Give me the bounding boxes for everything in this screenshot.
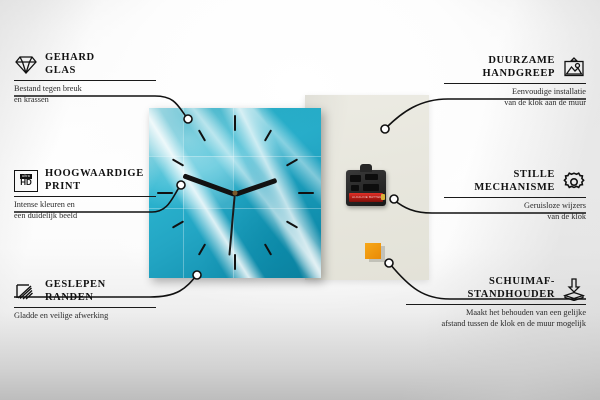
clock-tick-4 — [286, 220, 298, 228]
divider — [406, 304, 586, 305]
clock-tick-1 — [264, 129, 272, 141]
glass-reflection-line — [149, 156, 321, 157]
glass-reflection-line — [149, 208, 321, 209]
feature-schuimafstandhouder: SCHUIMAF- STANDHOUDER Maakt het behouden… — [406, 276, 586, 329]
feature-sub-line1: Maakt het behouden van een gelijke — [406, 308, 586, 319]
feature-duurzame-handgreep: DUURZAME HANDGREEP Eenvoudige installati… — [444, 55, 586, 108]
clock-tick-2 — [286, 158, 298, 166]
mechanism-detail — [363, 184, 379, 191]
mechanism-detail — [350, 175, 361, 182]
feature-sub-line1: Gladde en veilige afwerking — [14, 311, 156, 322]
feature-sub-line2: en krassen — [14, 95, 156, 106]
clock-face-image — [149, 108, 321, 278]
feature-geslepen-randen: GESLEPEN RANDEN Gladde en veilige afwerk… — [14, 279, 156, 322]
battery-label: ALKALINE BATTERY — [352, 195, 384, 199]
feature-sub-line2: afstand tussen de klok en de muur mogeli… — [406, 319, 586, 330]
beveled-edges-icon — [14, 281, 38, 303]
infographic-canvas: ALKALINE BATTERY — [0, 0, 600, 400]
feature-title: HOOGWAARDIGE PRINT — [45, 168, 144, 193]
picture-frame-icon — [562, 57, 586, 79]
feature-header: DUURZAME HANDGREEP — [444, 55, 586, 80]
clock-mechanism: ALKALINE BATTERY — [346, 170, 386, 206]
clock-hour-hand — [234, 178, 277, 197]
glass-sheen — [149, 108, 183, 156]
feature-header: STILLE MECHANISME — [444, 169, 586, 194]
foam-spacer-pad — [365, 243, 381, 259]
gear-icon — [562, 171, 586, 193]
feature-gehard-glas: GEHARD GLAS Bestand tegen breuk en krass… — [14, 52, 156, 105]
feature-sub-line2: van de klok — [444, 212, 586, 223]
feature-header: ultra HD HOOGWAARDIGE PRINT — [14, 168, 156, 193]
clock-tick-7 — [198, 243, 206, 255]
clock-tick-9 — [157, 192, 173, 194]
feature-title: SCHUIMAF- STANDHOUDER — [468, 276, 556, 301]
clock-tick-12 — [234, 115, 236, 131]
clock-center-pin — [233, 191, 238, 196]
feature-title: GEHARD GLAS — [45, 52, 95, 77]
clock-tick-6 — [234, 254, 236, 270]
clock-tick-11 — [198, 129, 206, 141]
clock-tick-3 — [298, 192, 314, 194]
feature-header: GESLEPEN RANDEN — [14, 279, 156, 304]
feature-sub-line2: van de klok aan de muur — [444, 98, 586, 109]
feature-sub-line1: Geruisloze wijzers — [444, 201, 586, 212]
feature-title: GESLEPEN RANDEN — [45, 279, 106, 304]
battery-positive-terminal — [381, 194, 385, 200]
ultra-hd-badge: ultra HD — [14, 170, 38, 192]
feature-title: DUURZAME HANDGREEP — [483, 55, 556, 80]
feature-title: STILLE MECHANISME — [474, 169, 555, 194]
feature-header: SCHUIMAF- STANDHOUDER — [406, 276, 586, 301]
divider — [444, 197, 586, 198]
clock-tick-5 — [264, 243, 272, 255]
diamond-icon — [14, 54, 38, 76]
divider — [14, 196, 156, 197]
feature-sub-line2: een duidelijk beeld — [14, 211, 156, 222]
divider — [444, 83, 586, 84]
feature-sub-line1: Eenvoudige installatie — [444, 87, 586, 98]
mechanism-battery: ALKALINE BATTERY — [349, 193, 383, 202]
mechanism-detail — [365, 174, 378, 180]
feature-stille-mechanisme: STILLE MECHANISME Geruisloze wijzers van… — [444, 169, 586, 222]
divider — [14, 307, 156, 308]
feature-sub-line1: Bestand tegen breuk — [14, 84, 156, 95]
spacer-arrow-icon — [562, 278, 586, 300]
divider — [14, 80, 156, 81]
mechanism-hanger — [360, 164, 372, 172]
ultra-hd-icon: ultra HD — [14, 170, 38, 192]
mechanism-detail — [351, 185, 359, 191]
feature-sub-line1: Intense kleuren en — [14, 200, 156, 211]
feature-hoogwaardige-print: ultra HD HOOGWAARDIGE PRINT Intense kleu… — [14, 168, 156, 221]
feature-header: GEHARD GLAS — [14, 52, 156, 77]
mechanism-hanger-hole — [378, 161, 382, 165]
